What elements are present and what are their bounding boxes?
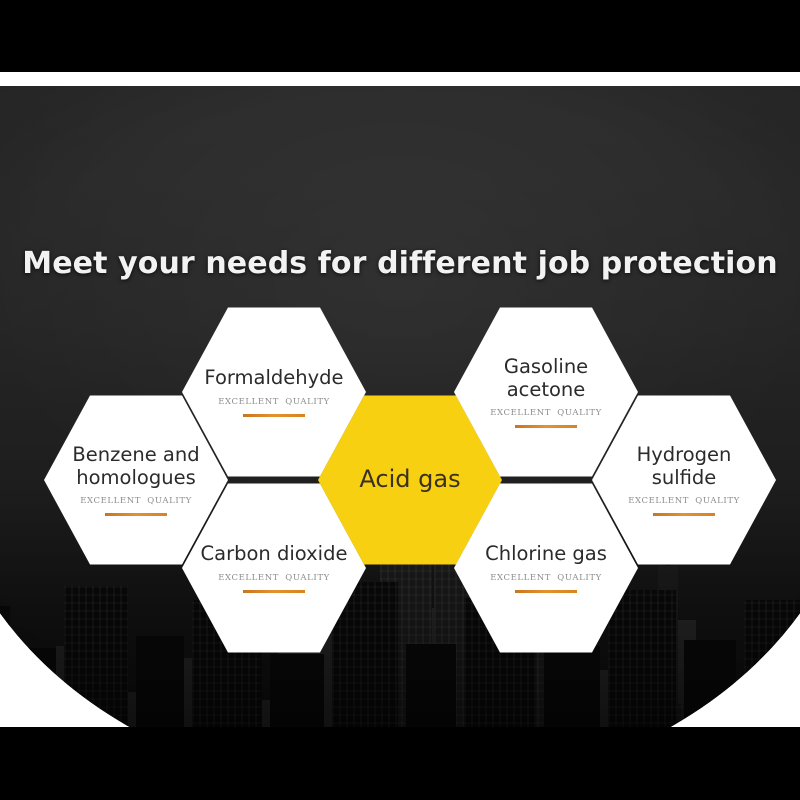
hex-subtitle: EXCELLENT QUALITY <box>628 496 740 506</box>
hex-subtitle: EXCELLENT QUALITY <box>490 408 602 418</box>
hex-title: Chlorine gas <box>485 543 607 566</box>
hex-subtitle: EXCELLENT QUALITY <box>218 573 330 583</box>
hex-title: Carbon dioxide <box>201 543 348 566</box>
hex-underline-rule <box>243 590 305 593</box>
white-separator-strip <box>0 72 800 86</box>
hex-subtitle: EXCELLENT QUALITY <box>80 496 192 506</box>
hex-underline-rule <box>515 590 577 593</box>
hex-title: Acid gas <box>359 466 460 494</box>
hex-subtitle: EXCELLENT QUALITY <box>218 397 330 407</box>
hex-title: Formaldehyde <box>204 367 343 390</box>
hex-underline-rule <box>515 425 577 428</box>
hex-title: Benzene and homologues <box>72 444 199 489</box>
hex-underline-rule <box>653 513 715 516</box>
slide-canvas: Meet your needs for different job protec… <box>0 0 800 800</box>
hex-underline-rule <box>105 513 167 516</box>
letterbox-bottom <box>0 727 800 800</box>
hex-title: Gasoline acetone <box>504 356 588 401</box>
hex-title: Hydrogen sulfide <box>637 444 732 489</box>
hex-subtitle: EXCELLENT QUALITY <box>490 573 602 583</box>
hex-underline-rule <box>243 414 305 417</box>
honeycomb-group: Benzene and homologues EXCELLENT QUALITY… <box>0 86 800 727</box>
letterbox-top <box>0 0 800 72</box>
hero-panel: Meet your needs for different job protec… <box>0 86 800 727</box>
